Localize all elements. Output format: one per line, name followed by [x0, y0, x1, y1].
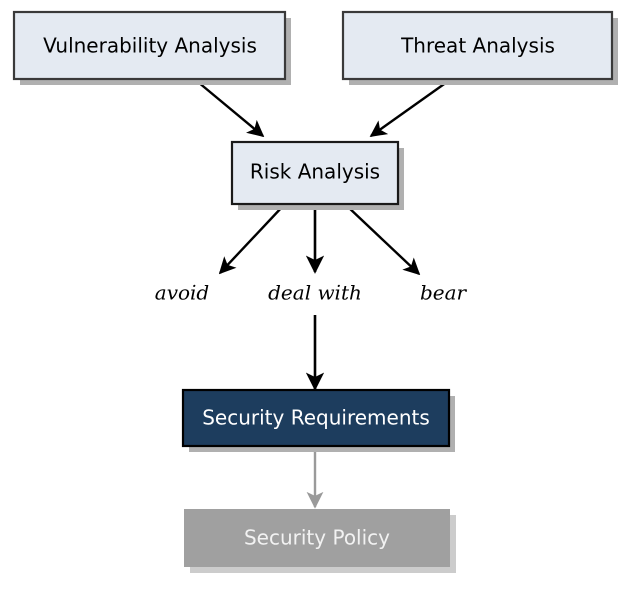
edge-label-deal-with: deal with: [268, 281, 362, 305]
node-vulnerability-analysis[interactable]: Vulnerability Analysis: [14, 12, 291, 85]
node-label-security-requirements: Security Requirements: [202, 406, 430, 430]
diagram-canvas: Vulnerability Analysis Threat Analysis R…: [0, 0, 638, 595]
edge-labels-layer: avoid deal with bear: [155, 281, 468, 305]
node-label-threat-analysis: Threat Analysis: [400, 34, 555, 58]
node-label-vulnerability-analysis: Vulnerability Analysis: [43, 34, 257, 58]
node-label-risk-analysis: Risk Analysis: [250, 160, 380, 184]
flowchart-svg: Vulnerability Analysis Threat Analysis R…: [0, 0, 638, 595]
edge-threat-to-risk: [371, 82, 447, 136]
edge-label-bear: bear: [420, 281, 468, 305]
node-security-policy[interactable]: Security Policy: [184, 509, 456, 573]
edge-vulnerability-to-risk: [198, 82, 263, 136]
edge-risk-to-avoid: [220, 206, 283, 273]
node-risk-analysis[interactable]: Risk Analysis: [232, 142, 404, 210]
node-threat-analysis[interactable]: Threat Analysis: [343, 12, 618, 85]
edge-label-avoid: avoid: [155, 281, 209, 305]
node-security-requirements[interactable]: Security Requirements: [183, 390, 455, 452]
node-label-security-policy: Security Policy: [244, 526, 390, 550]
edge-risk-to-bear: [347, 206, 419, 274]
